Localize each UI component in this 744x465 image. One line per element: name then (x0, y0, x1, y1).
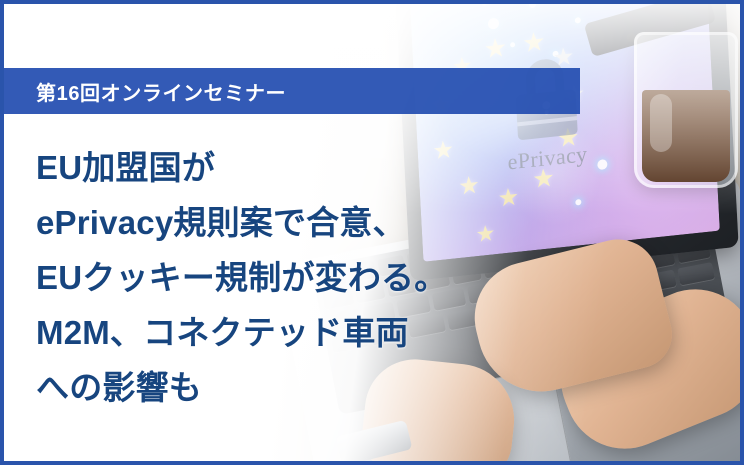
headline-line-4: M2M、コネクテッド車両 (36, 305, 447, 360)
headline-line-1: EU加盟国が (36, 140, 447, 195)
headline-line-5: への影響も (36, 360, 447, 415)
banner-content: 第16回オンラインセミナー EU加盟国が ePrivacy規則案で合意、 EUク… (4, 4, 740, 461)
seminar-kicker-bar: 第16回オンラインセミナー (4, 68, 580, 114)
seminar-kicker-label: 第16回オンラインセミナー (36, 77, 286, 106)
banner-canvas: ★ ★ ★ ★ ★ ★ ★ ★ ★ ★ ★ ★ ePriva (4, 4, 740, 461)
headline-line-2: ePrivacy規則案で合意、 (36, 195, 447, 250)
headline: EU加盟国が ePrivacy規則案で合意、 EUクッキー規制が変わる。 M2M… (36, 140, 447, 415)
headline-line-3: EUクッキー規制が変わる。 (36, 250, 447, 305)
seminar-banner: ★ ★ ★ ★ ★ ★ ★ ★ ★ ★ ★ ★ ePriva (0, 0, 744, 465)
